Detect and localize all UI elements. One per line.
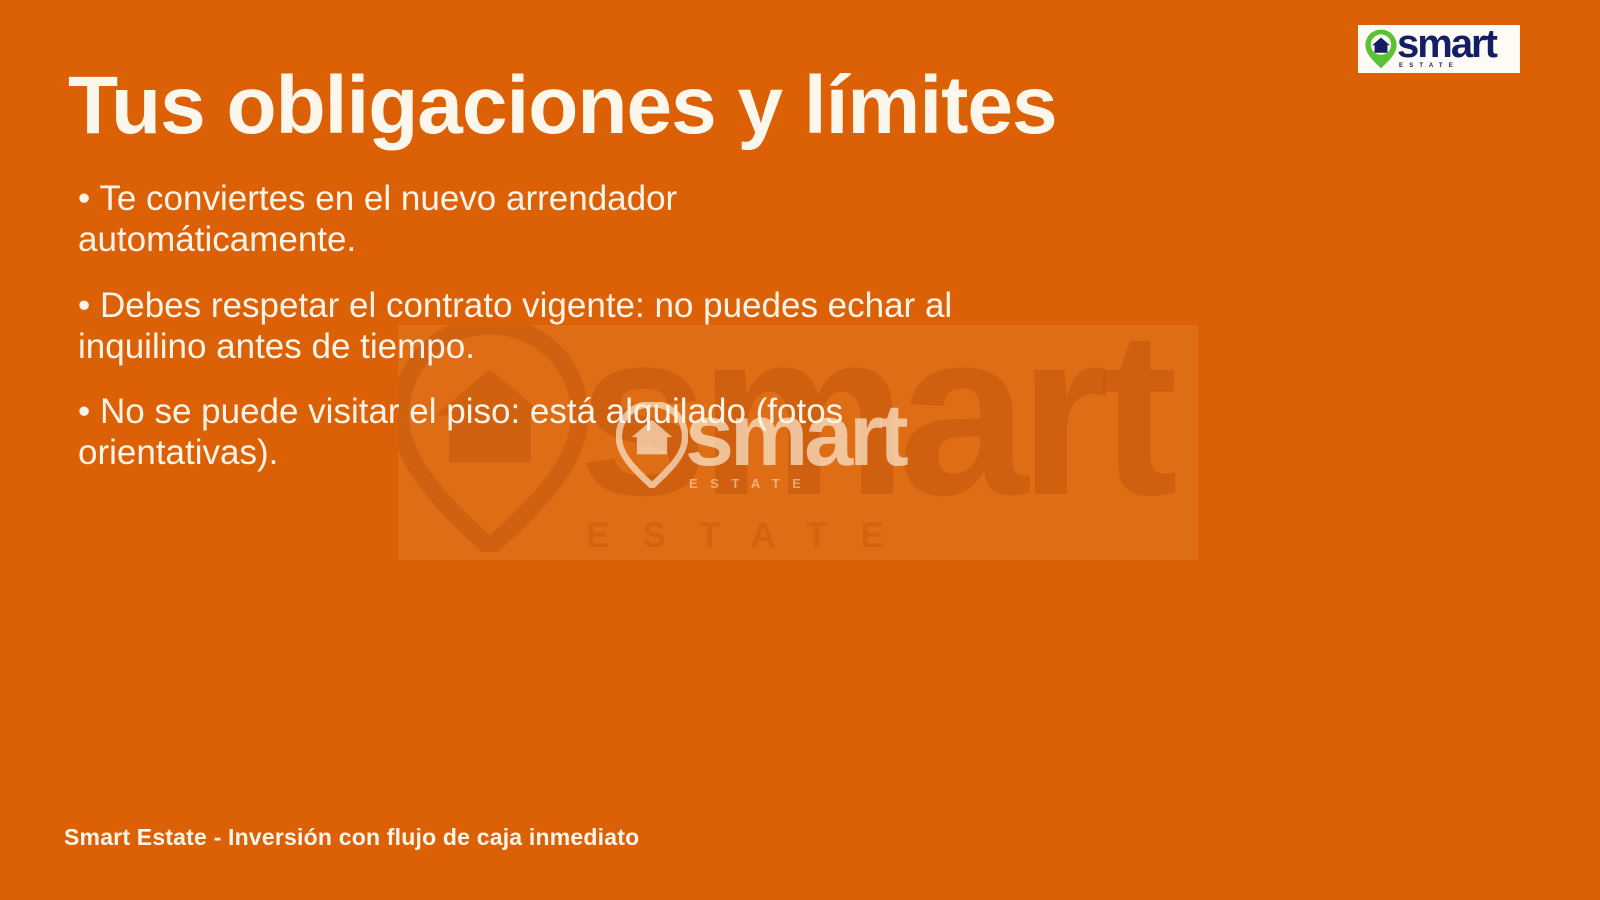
- map-pin-house-icon: [1364, 29, 1398, 69]
- bullet-list: • Te conviertes en el nuevo arrendador a…: [78, 178, 958, 474]
- brand-logo: smart ESTATE: [1358, 25, 1520, 73]
- brand-logo-subword: ESTATE: [1399, 63, 1496, 69]
- watermark-large-subword: ESTATE: [586, 518, 1168, 553]
- watermark-center-subword: ESTATE: [689, 477, 905, 490]
- slide-canvas: smart ESTATE smart ESTATE smart ESTATE T…: [0, 0, 1600, 900]
- brand-logo-wordmark: smart: [1397, 29, 1496, 60]
- slide-footer: Smart Estate - Inversión con flujo de ca…: [64, 824, 639, 851]
- brand-logo-words: smart ESTATE: [1397, 29, 1496, 69]
- bullet-item: • Te conviertes en el nuevo arrendador a…: [78, 178, 958, 261]
- slide-title: Tus obligaciones y límites: [68, 63, 1328, 149]
- bullet-item: • No se puede visitar el piso: está alqu…: [78, 391, 958, 474]
- bullet-item: • Debes respetar el contrato vigente: no…: [78, 285, 958, 368]
